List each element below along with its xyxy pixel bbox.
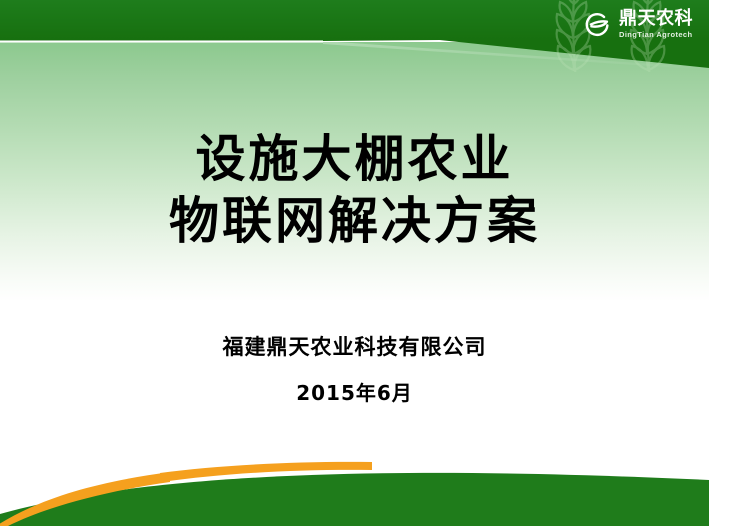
logo-name-cn: 鼎天农科 bbox=[619, 10, 693, 28]
company-logo: 鼎天农科 DingTian Agrotech bbox=[583, 6, 705, 42]
e-leaf-icon bbox=[583, 9, 613, 39]
presentation-slide: 鼎天农科 DingTian Agrotech 设施大棚农业 物联网解决方案 福建… bbox=[0, 0, 709, 526]
green-swoosh-shape bbox=[0, 473, 709, 526]
header-band: 鼎天农科 DingTian Agrotech bbox=[0, 0, 709, 72]
presentation-date: 2015年6月 bbox=[0, 380, 709, 406]
footer-decoration bbox=[0, 436, 709, 526]
logo-name-en: DingTian Agrotech bbox=[619, 31, 693, 39]
company-name: 福建鼎天农业科技有限公司 bbox=[0, 334, 709, 360]
slide-title: 设施大棚农业 物联网解决方案 bbox=[0, 128, 709, 252]
title-line-2: 物联网解决方案 bbox=[0, 190, 709, 252]
header-band-highlight-left bbox=[0, 40, 323, 43]
slide-subtitle: 福建鼎天农业科技有限公司 2015年6月 bbox=[0, 334, 709, 406]
title-line-1: 设施大棚农业 bbox=[0, 128, 709, 190]
logo-text-group: 鼎天农科 DingTian Agrotech bbox=[619, 10, 693, 39]
